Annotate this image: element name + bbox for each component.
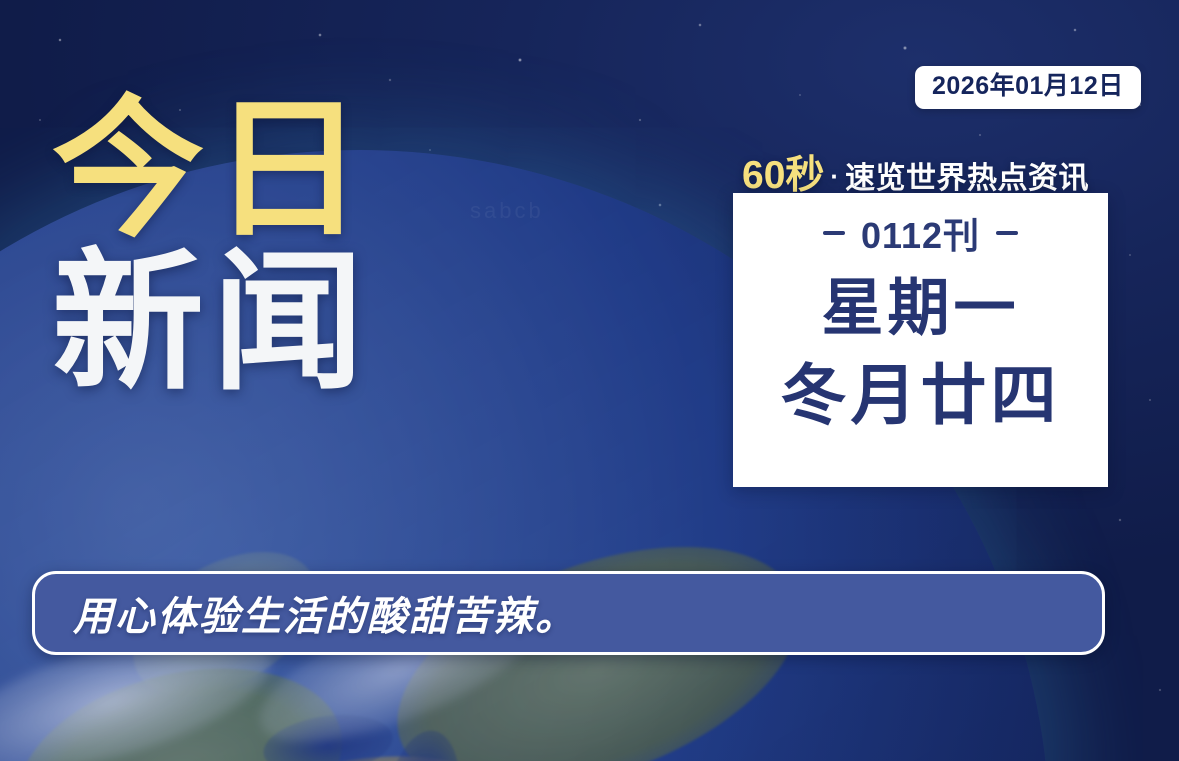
info-card: 0112刊 星期一 冬月廿四 [733, 193, 1108, 487]
tagline-separator-icon: · [827, 161, 842, 192]
date-badge: 2026年01月12日 [915, 66, 1141, 109]
quote-bar: 用心体验生活的酸甜苦辣。 [32, 571, 1105, 655]
tagline: 60秒 · 速览世界热点资讯 [742, 144, 1089, 200]
tagline-seconds: 60秒 [742, 144, 824, 200]
dash-right-icon [996, 231, 1018, 235]
lunar-date-label: 冬月廿四 [781, 359, 1061, 432]
weekday-label: 星期一 [821, 275, 1019, 343]
issue-number: 0112刊 [861, 207, 980, 259]
title-line-news: 新闻 [52, 249, 372, 398]
issue-row: 0112刊 [823, 207, 1018, 259]
dash-left-icon [823, 231, 845, 235]
quote-text: 用心体验生活的酸甜苦辣。 [73, 584, 577, 642]
news-poster: sabcb 今日 新闻 2026年01月12日 60秒 · 速览世界热点资讯 0… [0, 0, 1179, 761]
tagline-text: 速览世界热点资讯 [845, 153, 1089, 197]
page-title: 今日 新闻 [52, 96, 372, 398]
title-line-today: 今日 [52, 96, 372, 245]
